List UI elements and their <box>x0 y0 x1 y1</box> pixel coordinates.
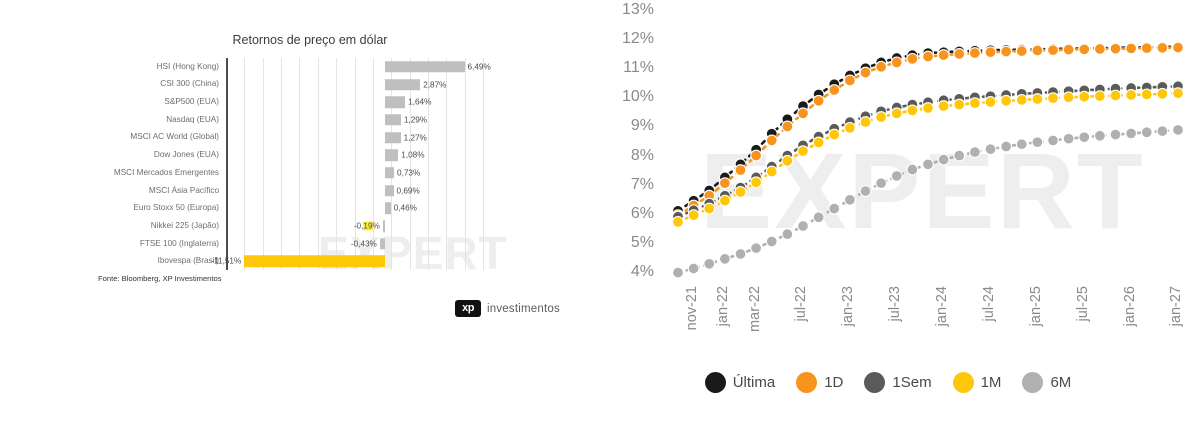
bar-value-label: -0,19% <box>354 222 380 231</box>
series-marker[interactable] <box>782 121 793 132</box>
series-marker[interactable] <box>1016 139 1027 150</box>
series-marker[interactable] <box>860 67 871 78</box>
series-marker[interactable] <box>1094 44 1105 55</box>
bar-chart-panel: Retornos de preço em dólar HSI (Hong Kon… <box>0 0 595 425</box>
series-marker[interactable] <box>688 210 699 221</box>
line-series-1d <box>673 42 1184 220</box>
bar-value-label: 1,64% <box>408 98 431 107</box>
series-marker[interactable] <box>1048 45 1059 56</box>
bar-fill[interactable] <box>385 203 391 215</box>
series-marker[interactable] <box>766 236 777 247</box>
y-axis-tick-label: 13% <box>622 1 654 19</box>
series-marker[interactable] <box>1063 44 1074 55</box>
series-marker[interactable] <box>798 221 809 232</box>
series-marker[interactable] <box>923 103 934 114</box>
series-marker[interactable] <box>1063 133 1074 144</box>
series-marker[interactable] <box>876 112 887 123</box>
series-marker[interactable] <box>829 85 840 96</box>
bar-track: 1,64% <box>226 93 483 111</box>
series-marker[interactable] <box>844 194 855 205</box>
series-marker[interactable] <box>1032 45 1043 56</box>
y-axis-tick-label: 5% <box>631 234 654 252</box>
x-axis-tick-label: jan-25 <box>1028 286 1044 326</box>
gridline <box>483 58 484 270</box>
bar-track: -0,43% <box>226 235 483 253</box>
y-axis-tick-label: 12% <box>622 30 654 48</box>
bar-value-label: 0,73% <box>397 168 420 177</box>
series-marker[interactable] <box>1063 92 1074 103</box>
series-marker[interactable] <box>735 187 746 198</box>
legend-label: 6M <box>1050 374 1071 391</box>
bar-category-label: MSCI Ásia Pacífico <box>98 187 224 195</box>
x-axis-tick-label: jan-23 <box>840 286 856 326</box>
series-marker[interactable] <box>1126 43 1137 54</box>
bar-value-label: -11,51% <box>211 257 241 266</box>
bar-chart-row: Nasdaq (EUA)1,29% <box>98 111 483 129</box>
bar-chart-row: S&P500 (EUA)1,64% <box>98 93 483 111</box>
series-marker[interactable] <box>938 154 949 165</box>
bar-value-label: 6,49% <box>468 62 491 71</box>
x-axis-tick-label: nov-21 <box>684 286 700 330</box>
series-marker[interactable] <box>969 98 980 109</box>
series-marker[interactable] <box>876 61 887 72</box>
series-marker[interactable] <box>844 75 855 86</box>
series-marker[interactable] <box>860 117 871 128</box>
bar-track: 0,73% <box>226 164 483 182</box>
series-marker[interactable] <box>673 267 684 278</box>
legend-swatch-icon <box>1022 372 1043 393</box>
series-marker[interactable] <box>766 135 777 146</box>
xp-logo-mark: xp <box>455 300 481 317</box>
series-marker[interactable] <box>1157 88 1168 99</box>
series-marker[interactable] <box>1173 42 1184 53</box>
series-marker[interactable] <box>1016 46 1027 57</box>
bar-value-label: 2,87% <box>423 80 446 89</box>
series-marker[interactable] <box>1110 129 1121 140</box>
bar-track: -11,51% <box>226 253 483 271</box>
bar-track: -0,19% <box>226 217 483 235</box>
legend-swatch-icon <box>864 372 885 393</box>
series-marker[interactable] <box>1001 46 1012 57</box>
bar-track: 0,46% <box>226 200 483 218</box>
y-axis-tick-label: 9% <box>631 117 654 135</box>
series-marker[interactable] <box>735 165 746 176</box>
series-marker[interactable] <box>719 178 730 189</box>
y-axis-tick-label: 4% <box>631 263 654 281</box>
series-marker[interactable] <box>1094 130 1105 141</box>
bar-track: 1,29% <box>226 111 483 129</box>
legend-swatch-icon <box>705 372 726 393</box>
bar-value-label: -0,43% <box>351 239 377 248</box>
line-chart-plot-area <box>662 0 1190 290</box>
bar-category-label: Euro Stoxx 50 (Europa) <box>98 204 224 212</box>
series-marker[interactable] <box>985 97 996 108</box>
x-axis-tick-label: jul-23 <box>887 286 903 321</box>
series-marker[interactable] <box>766 166 777 177</box>
series-marker[interactable] <box>891 171 902 182</box>
bar-value-label: 1,27% <box>404 133 427 142</box>
line-series-1m <box>673 88 1184 227</box>
series-marker[interactable] <box>798 108 809 119</box>
series-marker[interactable] <box>829 203 840 214</box>
series-marker[interactable] <box>1001 141 1012 152</box>
series-marker[interactable] <box>907 54 918 65</box>
line-chart-y-axis: 4%5%6%7%8%9%10%11%12%13% <box>600 0 660 290</box>
line-series-última <box>673 41 1184 216</box>
x-axis-tick-label: jul-22 <box>793 286 809 321</box>
bar-fill[interactable] <box>385 96 405 108</box>
bar-fill[interactable] <box>385 150 398 162</box>
series-marker[interactable] <box>923 159 934 170</box>
bar-fill[interactable] <box>385 167 394 179</box>
series-marker[interactable] <box>1048 135 1059 146</box>
bar-category-label: Nasdaq (EUA) <box>98 116 224 124</box>
series-marker[interactable] <box>923 51 934 62</box>
bar-chart-row: MSCI Mercados Emergentes0,73% <box>98 164 483 182</box>
series-marker[interactable] <box>985 47 996 58</box>
series-marker[interactable] <box>1079 91 1090 102</box>
bar-fill[interactable] <box>244 256 385 268</box>
series-marker[interactable] <box>1173 125 1184 136</box>
series-marker[interactable] <box>938 101 949 112</box>
legend-label: 1M <box>981 374 1002 391</box>
bar-chart-rows: HSI (Hong Kong)6,49%CSI 300 (China)2,87%… <box>98 58 483 270</box>
bar-chart-row: CSI 300 (China)2,87% <box>98 76 483 94</box>
series-marker[interactable] <box>1141 89 1152 100</box>
series-marker[interactable] <box>735 249 746 260</box>
bar-chart-row: MSCI Ásia Pacífico0,69% <box>98 182 483 200</box>
y-axis-tick-label: 6% <box>631 205 654 223</box>
series-marker[interactable] <box>876 178 887 189</box>
series-marker[interactable] <box>938 50 949 61</box>
bar-fill[interactable] <box>385 61 464 73</box>
series-marker[interactable] <box>891 57 902 68</box>
bar-category-label: MSCI Mercados Emergentes <box>98 169 224 177</box>
series-marker[interactable] <box>782 229 793 240</box>
series-marker[interactable] <box>844 123 855 134</box>
series-marker[interactable] <box>1016 95 1027 106</box>
bar-chart-plot-area: HSI (Hong Kong)6,49%CSI 300 (China)2,87%… <box>98 58 483 270</box>
legend-item-1sem[interactable]: 1Sem <box>864 372 931 393</box>
series-marker[interactable] <box>813 212 824 223</box>
line-chart-panel: 4%5%6%7%8%9%10%11%12%13% nov-21jan-22mar… <box>600 0 1190 425</box>
bar-chart-row: HSI (Hong Kong)6,49% <box>98 58 483 76</box>
series-marker[interactable] <box>719 254 730 265</box>
series-marker[interactable] <box>1157 126 1168 137</box>
bar-category-label: CSI 300 (China) <box>98 80 224 88</box>
xp-investimentos-logo: xp investimentos <box>455 300 560 317</box>
series-marker[interactable] <box>954 150 965 161</box>
series-marker[interactable] <box>907 105 918 116</box>
legend-label: 1Sem <box>892 374 931 391</box>
bar-category-label: S&P500 (EUA) <box>98 98 224 106</box>
bar-track: 1,27% <box>226 129 483 147</box>
legend-item-1m[interactable]: 1M <box>953 372 1002 393</box>
series-marker[interactable] <box>751 150 762 161</box>
bar-category-label: Nikkei 225 (Japão) <box>98 222 224 230</box>
series-marker[interactable] <box>1141 43 1152 54</box>
bar-fill[interactable] <box>383 220 385 232</box>
series-marker[interactable] <box>891 108 902 119</box>
bar-chart-row: Nikkei 225 (Japão)-0,19% <box>98 217 483 235</box>
legend-item-1d[interactable]: 1D <box>796 372 843 393</box>
line-series-1sem <box>673 81 1184 222</box>
bar-track: 6,49% <box>226 58 483 76</box>
legend-swatch-icon <box>953 372 974 393</box>
bar-value-label: 1,08% <box>401 151 424 160</box>
bar-value-label: 0,69% <box>397 186 420 195</box>
legend-item-6m[interactable]: 6M <box>1022 372 1071 393</box>
series-marker[interactable] <box>688 263 699 274</box>
series-marker[interactable] <box>1032 137 1043 148</box>
series-marker[interactable] <box>860 186 871 197</box>
series-marker[interactable] <box>1126 128 1137 139</box>
xp-logo-wordmark: investimentos <box>487 303 560 315</box>
bar-chart-row: Dow Jones (EUA)1,08% <box>98 146 483 164</box>
bar-category-label: HSI (Hong Kong) <box>98 63 224 71</box>
bar-fill[interactable] <box>385 185 393 197</box>
series-marker[interactable] <box>813 95 824 106</box>
line-chart-legend: Última1D1Sem1M6M <box>600 372 1190 393</box>
bar-chart-row: Ibovespa (Brasil)-11,51% <box>98 253 483 271</box>
series-marker[interactable] <box>1001 95 1012 106</box>
legend-label: 1D <box>824 374 843 391</box>
series-marker[interactable] <box>751 243 762 254</box>
bar-fill[interactable] <box>380 238 385 250</box>
y-axis-tick-label: 11% <box>623 59 654 77</box>
bar-category-label: FTSE 100 (Inglaterra) <box>98 240 224 248</box>
y-axis-tick-label: 7% <box>631 176 654 194</box>
x-axis-tick-label: mar-22 <box>747 286 763 332</box>
bar-fill[interactable] <box>385 79 420 91</box>
bar-chart-row: Euro Stoxx 50 (Europa)0,46% <box>98 200 483 218</box>
series-marker[interactable] <box>1032 94 1043 105</box>
x-axis-tick-label: jan-27 <box>1168 286 1184 326</box>
line-chart-x-axis: nov-21jan-22mar-22jul-22jan-23jul-23jan-… <box>662 286 1190 376</box>
bar-track: 1,08% <box>226 146 483 164</box>
legend-swatch-icon <box>796 372 817 393</box>
series-marker[interactable] <box>1079 44 1090 55</box>
x-axis-tick-label: jan-22 <box>715 286 731 326</box>
line-series-6m <box>673 125 1184 278</box>
line-chart-svg <box>662 0 1190 290</box>
series-marker[interactable] <box>704 203 715 214</box>
series-marker[interactable] <box>798 146 809 157</box>
series-marker[interactable] <box>829 129 840 140</box>
series-marker[interactable] <box>1079 132 1090 143</box>
x-axis-tick-label: jul-25 <box>1075 286 1091 321</box>
series-marker[interactable] <box>1126 90 1137 101</box>
bar-value-label: 0,46% <box>394 204 417 213</box>
series-marker[interactable] <box>1157 42 1168 53</box>
x-axis-tick-label: jul-24 <box>981 286 997 321</box>
series-marker[interactable] <box>704 258 715 269</box>
series-marker[interactable] <box>1094 91 1105 102</box>
bar-track: 2,87% <box>226 76 483 94</box>
series-marker[interactable] <box>673 217 684 228</box>
legend-item-última[interactable]: Última <box>705 372 776 393</box>
series-marker[interactable] <box>1173 88 1184 99</box>
bar-value-label: 1,29% <box>404 115 427 124</box>
y-axis-tick-label: 10% <box>622 88 654 106</box>
series-marker[interactable] <box>1048 93 1059 104</box>
bar-category-label: MSCI AC World (Global) <box>98 133 224 141</box>
series-marker[interactable] <box>969 147 980 158</box>
series-marker[interactable] <box>1110 43 1121 54</box>
bar-chart-title: Retornos de preço em dólar <box>200 33 420 47</box>
series-marker[interactable] <box>751 177 762 188</box>
series-marker[interactable] <box>954 49 965 60</box>
bar-track: 0,69% <box>226 182 483 200</box>
bar-fill[interactable] <box>385 114 401 126</box>
series-marker[interactable] <box>782 155 793 166</box>
bar-category-label: Dow Jones (EUA) <box>98 151 224 159</box>
x-axis-tick-label: jan-24 <box>934 286 950 326</box>
bar-fill[interactable] <box>385 132 401 144</box>
bar-category-label: Ibovespa (Brasil) <box>98 257 224 265</box>
bar-chart-row: FTSE 100 (Inglaterra)-0,43% <box>98 235 483 253</box>
series-marker[interactable] <box>813 137 824 148</box>
series-marker[interactable] <box>969 48 980 59</box>
bar-chart-source: Fonte: Bloomberg, XP Investimentos <box>98 274 222 283</box>
series-marker[interactable] <box>1141 127 1152 138</box>
series-marker[interactable] <box>1110 90 1121 101</box>
series-marker[interactable] <box>954 99 965 110</box>
series-marker[interactable] <box>907 164 918 175</box>
legend-label: Última <box>733 374 776 391</box>
bar-chart-row: MSCI AC World (Global)1,27% <box>98 129 483 147</box>
y-axis-tick-label: 8% <box>631 147 654 165</box>
series-marker[interactable] <box>719 195 730 206</box>
x-axis-tick-label: jan-26 <box>1122 286 1138 326</box>
series-marker[interactable] <box>985 144 996 155</box>
